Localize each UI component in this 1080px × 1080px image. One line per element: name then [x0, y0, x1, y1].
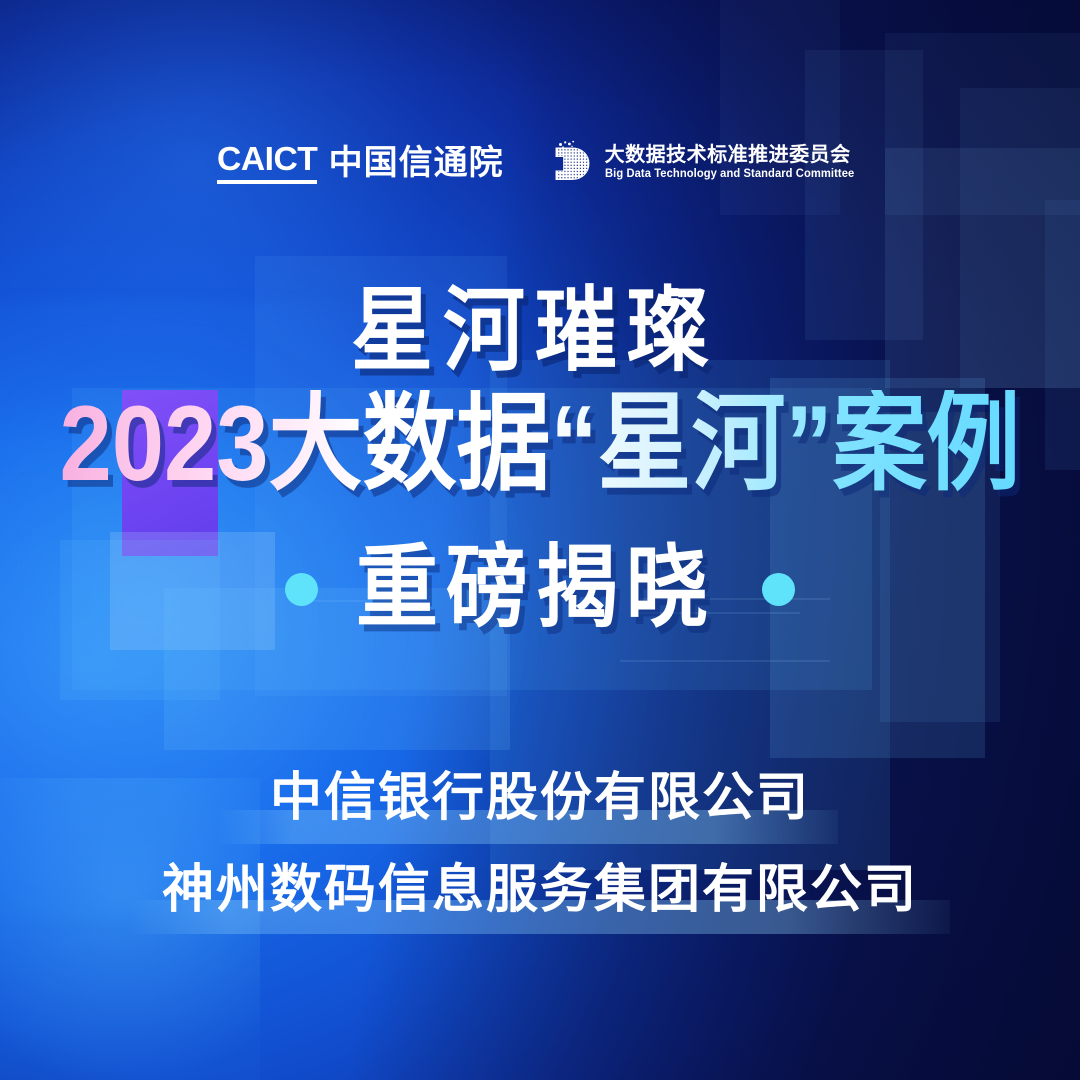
poster-canvas: CAICT 中国信通院 [0, 0, 1080, 1080]
company-list: 中信银行股份有限公司 神州数码信息服务集团有限公司 [0, 772, 1080, 916]
caict-chinese-name: 中国信通院 [329, 146, 504, 184]
headline-line-2: 2023大数据“星河”案例 [0, 390, 1080, 497]
bdtc-chinese-name: 大数据技术标准推进委员会 [605, 145, 862, 166]
big-data-d-logo-icon [550, 138, 594, 188]
bdtc-text-block: 大数据技术标准推进委员会 Big Data Technology and Sta… [605, 145, 862, 180]
company-name-1: 中信银行股份有限公司 [0, 772, 1080, 824]
bullet-dot-right-icon [762, 573, 795, 606]
logo-row: CAICT 中国信通院 [0, 138, 1080, 188]
bullet-dot-left-icon [285, 573, 318, 606]
bdtc-logo: 大数据技术标准推进委员会 Big Data Technology and Sta… [550, 138, 862, 188]
headline-line-1: 星河璀璨 [0, 286, 1080, 378]
headline-block: 星河璀璨 2023大数据“星河”案例 重磅揭晓 [0, 286, 1080, 630]
caict-wordmark-icon: CAICT [217, 142, 317, 184]
headline-line-3: 重磅揭晓 [356, 544, 724, 634]
caict-logo: CAICT 中国信通院 [218, 142, 503, 184]
bdtc-english-name: Big Data Technology and Standard Committ… [605, 168, 854, 180]
headline-line-3-row: 重磅揭晓 [0, 548, 1080, 630]
company-name-2: 神州数码信息服务集团有限公司 [0, 864, 1080, 916]
